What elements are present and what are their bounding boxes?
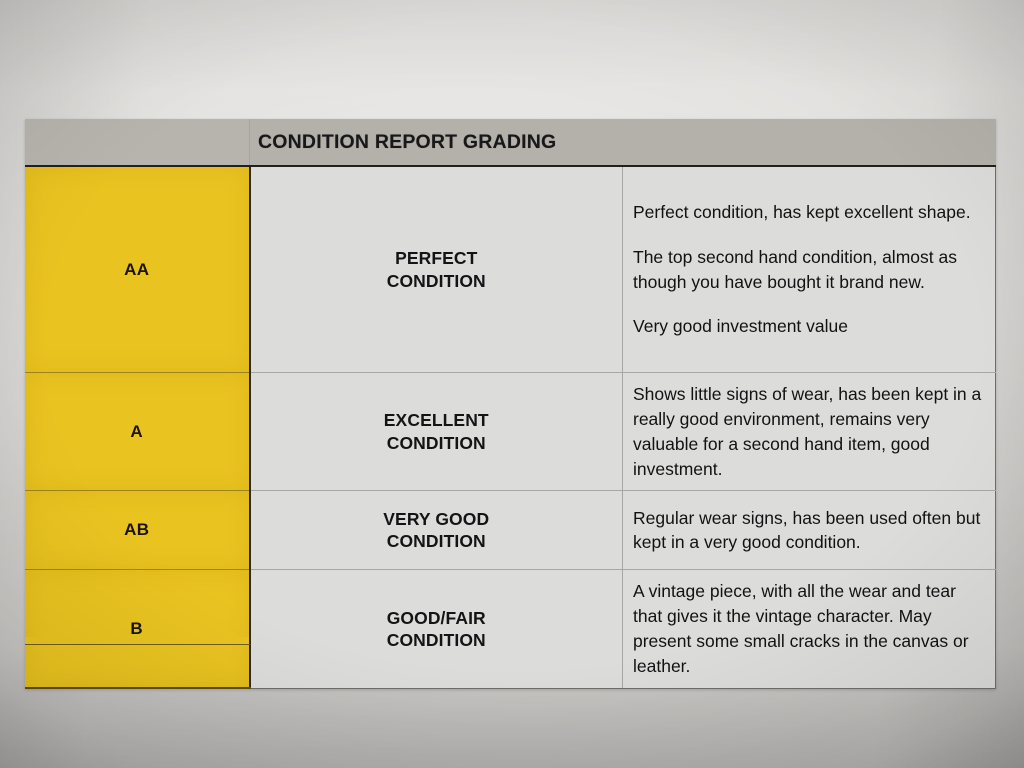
condition-report-grading-table: CONDITION REPORT GRADING AA PERFECT COND… [25, 119, 996, 689]
condition-name-aa: PERFECT CONDITION [250, 166, 623, 373]
table-row: AB VERY GOOD CONDITION Regular wear sign… [25, 491, 996, 570]
condition-line-1: VERY GOOD [383, 509, 489, 529]
condition-line-1: PERFECT [395, 248, 477, 268]
grade-cell-b: B [25, 570, 250, 688]
description-a: Shows little signs of wear, has been kep… [623, 373, 996, 491]
page-title: CONDITION REPORT GRADING [250, 119, 996, 166]
description-paragraph: Very good investment value [633, 314, 983, 339]
description-paragraph: A vintage piece, with all the wear and t… [633, 579, 983, 678]
table-body: CONDITION REPORT GRADING AA PERFECT COND… [25, 119, 996, 688]
table-row: AA PERFECT CONDITION Perfect condition, … [25, 166, 996, 373]
condition-line-1: EXCELLENT [384, 410, 489, 430]
condition-line-1: GOOD/FAIR [387, 608, 486, 628]
description-paragraph: Shows little signs of wear, has been kep… [633, 382, 983, 481]
table-header-row: CONDITION REPORT GRADING [25, 119, 996, 166]
condition-line-2: CONDITION [387, 531, 486, 551]
condition-line-2: CONDITION [387, 630, 486, 650]
grade-column-bottom-edge [25, 637, 251, 645]
description-paragraph: The top second hand condition, almost as… [633, 245, 983, 295]
description-b: A vintage piece, with all the wear and t… [623, 570, 996, 688]
grade-cell-a: A [25, 373, 250, 491]
grade-cell-aa: AA [25, 166, 250, 373]
description-aa: Perfect condition, has kept excellent sh… [623, 166, 996, 373]
table-row: B GOOD/FAIR CONDITION A vintage piece, w… [25, 570, 996, 688]
description-paragraph: Perfect condition, has kept excellent sh… [633, 200, 983, 225]
condition-line-2: CONDITION [387, 271, 486, 291]
condition-name-a: EXCELLENT CONDITION [250, 373, 623, 491]
condition-name-ab: VERY GOOD CONDITION [250, 491, 623, 570]
description-ab: Regular wear signs, has been used often … [623, 491, 996, 570]
table-row: A EXCELLENT CONDITION Shows little signs… [25, 373, 996, 491]
condition-name-b: GOOD/FAIR CONDITION [250, 570, 623, 688]
grade-cell-ab: AB [25, 491, 250, 570]
condition-line-2: CONDITION [387, 433, 486, 453]
header-blank-cell [25, 119, 250, 166]
description-paragraph: Regular wear signs, has been used often … [633, 506, 983, 556]
